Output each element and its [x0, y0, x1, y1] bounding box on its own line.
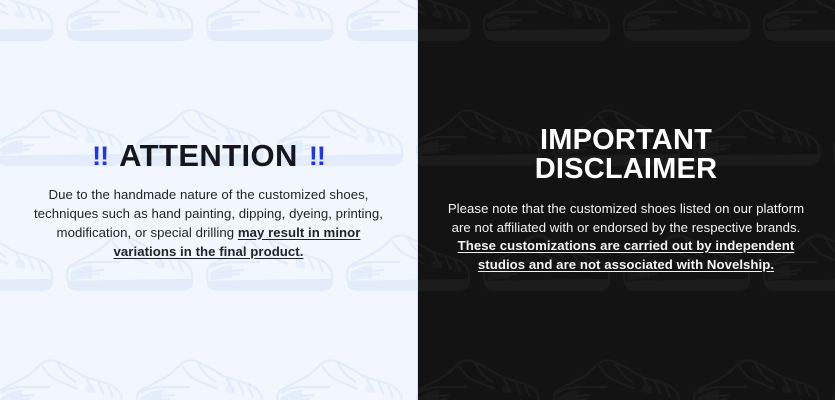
sneaker-icon: [757, 0, 835, 48]
attention-panel: !!ATTENTION!! Due to the handmade nature…: [0, 0, 417, 400]
disclaimer-heading: IMPORTANT DISCLAIMER: [443, 126, 809, 184]
sneaker-icon: [60, 0, 200, 48]
sneaker-icon: [200, 0, 340, 48]
sneaker-pattern-row: [0, 325, 417, 400]
sneaker-icon: [270, 353, 410, 400]
disclaimer-content: IMPORTANT DISCLAIMER Please note that th…: [417, 126, 835, 274]
sneaker-pattern-row: [417, 325, 835, 400]
exclamation-right-icon: !!: [309, 141, 325, 171]
sneaker-pattern-row: [0, 0, 417, 75]
disclaimer-body-emphasis: These customizations are carried out by …: [458, 238, 795, 272]
disclaimer-panel: IMPORTANT DISCLAIMER Please note that th…: [417, 0, 835, 400]
sneaker-icon: [340, 0, 417, 48]
panel-divider: [417, 0, 418, 400]
attention-heading-text: ATTENTION: [108, 140, 309, 171]
sneaker-icon: [827, 353, 835, 400]
sneaker-icon: [130, 353, 270, 400]
sneaker-icon: [410, 353, 417, 400]
attention-content: !!ATTENTION!! Due to the handmade nature…: [0, 140, 417, 261]
attention-body: Due to the handmade nature of the custom…: [26, 185, 391, 261]
attention-disclaimer-banner: !!ATTENTION!! Due to the handmade nature…: [0, 0, 835, 400]
exclamation-left-icon: !!: [92, 141, 108, 171]
disclaimer-heading-line1: IMPORTANT: [443, 126, 809, 155]
sneaker-icon: [617, 0, 757, 48]
sneaker-pattern-row: [417, 0, 835, 75]
disclaimer-body-normal: Please note that the customized shoes li…: [448, 201, 804, 235]
sneaker-icon: [687, 353, 827, 400]
sneaker-icon: [547, 353, 687, 400]
sneaker-icon: [417, 353, 547, 400]
sneaker-icon: [417, 0, 477, 48]
sneaker-icon: [477, 0, 617, 48]
attention-heading: !!ATTENTION!!: [26, 140, 391, 171]
disclaimer-body: Please note that the customized shoes li…: [443, 200, 809, 274]
sneaker-icon: [0, 0, 60, 48]
disclaimer-heading-line2: DISCLAIMER: [443, 155, 809, 184]
sneaker-icon: [0, 353, 130, 400]
